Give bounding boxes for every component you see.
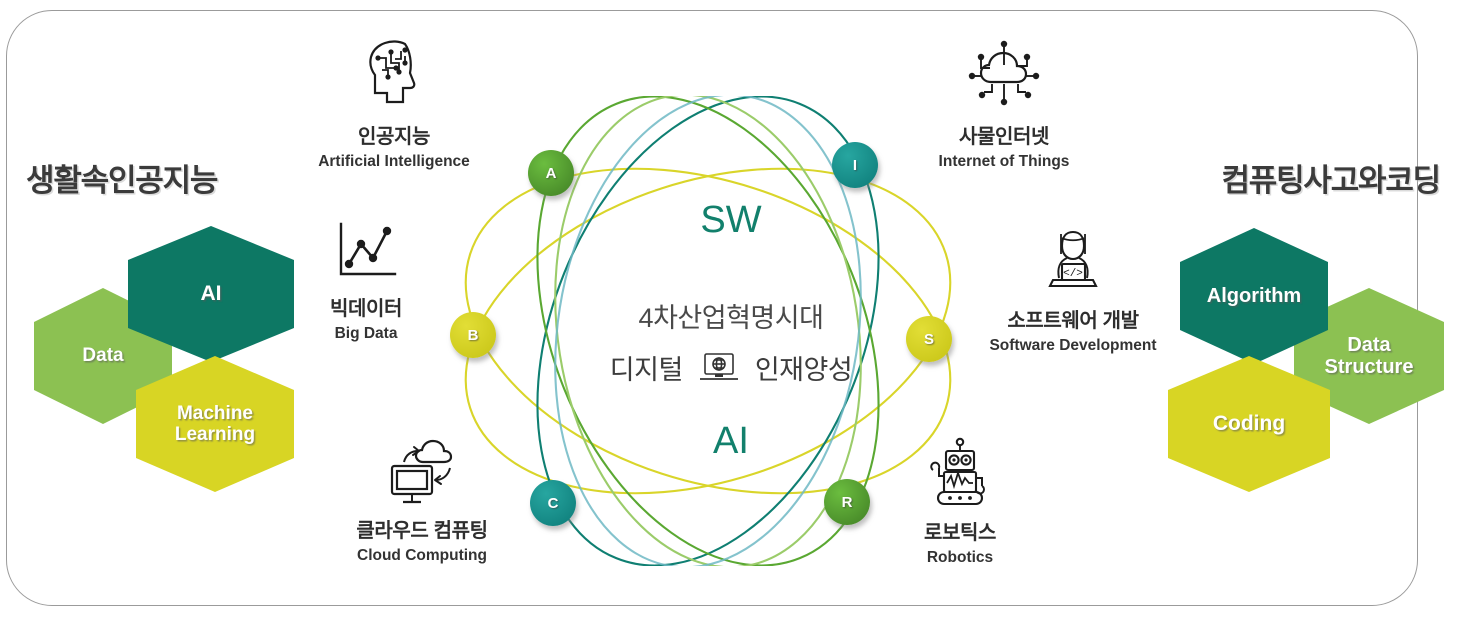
topic-bigdata-ko: 빅데이터 [246, 292, 486, 321]
head-circuit-icon [274, 32, 514, 114]
topic-swdev-ko: 소프트웨어 개발 [948, 304, 1198, 333]
infographic-canvas: 생활속인공지능 Data AI MachineLearning 컴퓨팅사고와코딩… [0, 0, 1462, 627]
hexagon-machine-learning-label: MachineLearning [171, 403, 259, 446]
svg-text:</>: </> [1063, 268, 1083, 280]
topic-robotics-en: Robotics [840, 549, 1080, 567]
right-section-heading: 컴퓨팅사고와코딩 [1221, 155, 1440, 200]
topic-cloud-ko: 클라우드 컴퓨팅 [302, 514, 542, 543]
topic-bigdata-en: Big Data [246, 325, 486, 343]
center-tagline-right: 인재양성 [755, 348, 852, 387]
topic-ai-ko: 인공지능 [274, 120, 514, 149]
badge-software-development[interactable]: S [906, 316, 952, 362]
badge-internet-of-things[interactable]: I [832, 142, 878, 188]
center-label-sw: SW [521, 199, 941, 242]
topic-software-development: </> 소프트웨어 개발 Software Development [948, 222, 1198, 355]
topic-ai-en: Artificial Intelligence [274, 153, 514, 171]
badge-i-label: I [853, 157, 857, 174]
topic-robotics-ko: 로보틱스 [840, 516, 1080, 545]
topic-artificial-intelligence: 인공지능 Artificial Intelligence [274, 32, 514, 171]
left-section-heading: 생활속인공지능 [26, 155, 217, 200]
hexagon-data-structure-label: DataStructure [1321, 334, 1418, 379]
hexagon-ai-label: AI [197, 282, 226, 306]
topic-iot-ko: 사물인터넷 [884, 120, 1124, 149]
badge-s-label: S [924, 331, 934, 348]
center-tagline-line1: 4차산업혁명시대 [521, 296, 941, 335]
badge-artificial-intelligence[interactable]: A [528, 150, 574, 196]
topic-cloud-computing: 클라우드 컴퓨팅 Cloud Computing [302, 434, 542, 565]
center-tagline-left: 디지털 [610, 348, 683, 387]
cloud-nodes-icon [884, 32, 1124, 114]
topic-big-data: 빅데이터 Big Data [246, 218, 486, 343]
hexagon-algorithm-label: Algorithm [1203, 285, 1305, 307]
topic-cloud-en: Cloud Computing [302, 547, 542, 565]
badge-c-label: C [548, 495, 559, 512]
topic-internet-of-things: 사물인터넷 Internet of Things [884, 32, 1124, 171]
developer-laptop-icon: </> [948, 222, 1198, 298]
line-chart-icon [246, 218, 486, 286]
cloud-monitor-sync-icon [302, 434, 542, 508]
topic-robotics: 로보틱스 Robotics [840, 434, 1080, 567]
laptop-globe-icon [697, 351, 741, 385]
badge-a-label: A [546, 165, 557, 182]
hexagon-coding-label: Coding [1209, 412, 1289, 436]
robot-icon [840, 434, 1080, 510]
topic-swdev-en: Software Development [948, 337, 1198, 355]
topic-iot-en: Internet of Things [884, 153, 1124, 171]
hexagon-data-label: Data [78, 345, 127, 366]
center-tagline-line2: 디지털 인재양성 [521, 348, 941, 387]
